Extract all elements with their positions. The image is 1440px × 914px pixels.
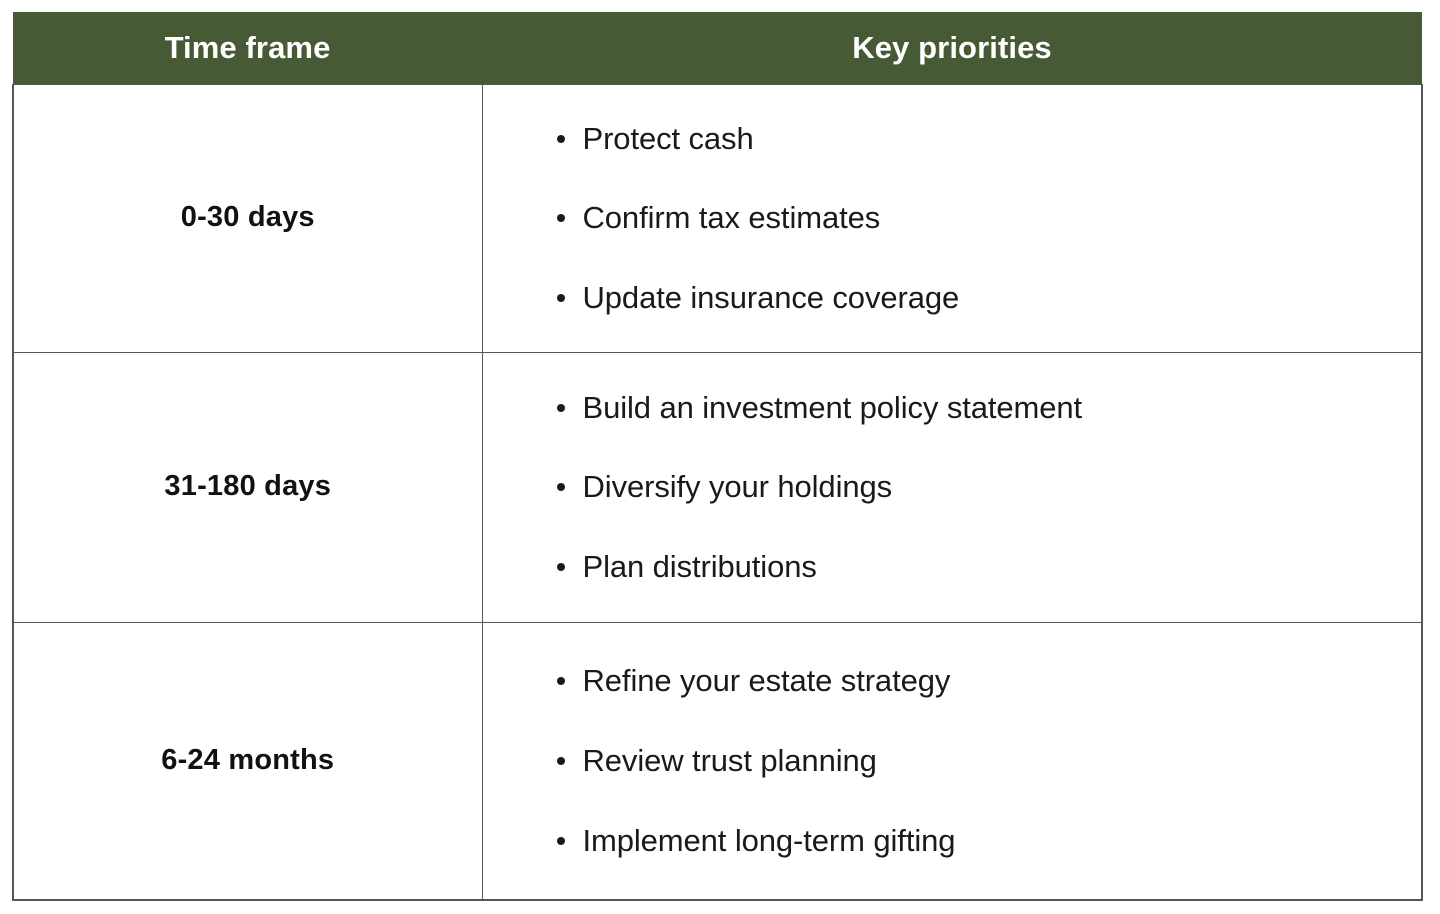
- list-item: Update insurance coverage: [553, 280, 1398, 316]
- priorities-cell: Protect cash Confirm tax estimates Updat…: [482, 84, 1422, 352]
- list-item: Protect cash: [553, 121, 1398, 157]
- priority-list: Protect cash Confirm tax estimates Updat…: [553, 121, 1398, 316]
- list-item: Plan distributions: [553, 549, 1398, 585]
- page-root: Time frame Key priorities 0-30 days Prot…: [0, 0, 1440, 914]
- bullet-icon: [557, 404, 565, 412]
- column-header-time-frame-label: Time frame: [13, 32, 482, 63]
- priority-list: Refine your estate strategy Review trust…: [553, 663, 1398, 858]
- priorities-table: Time frame Key priorities 0-30 days Prot…: [12, 12, 1423, 901]
- list-item-label: Refine your estate strategy: [583, 663, 951, 698]
- list-item-label: Confirm tax estimates: [583, 200, 881, 235]
- list-item-label: Diversify your holdings: [583, 469, 893, 504]
- bullet-icon: [557, 677, 565, 685]
- timeframe-label: 6-24 months: [14, 745, 482, 777]
- list-item: Build an investment policy statement: [553, 390, 1398, 426]
- table-header-row: Time frame Key priorities: [13, 12, 1422, 84]
- list-item-label: Implement long-term gifting: [583, 823, 956, 858]
- bullet-icon: [557, 214, 565, 222]
- list-item-label: Review trust planning: [583, 743, 877, 778]
- timeframe-label: 0-30 days: [14, 202, 482, 234]
- bullet-icon: [557, 294, 565, 302]
- bullet-icon: [557, 483, 565, 491]
- column-header-time-frame: Time frame: [13, 12, 482, 84]
- bullet-icon: [557, 135, 565, 143]
- list-item: Diversify your holdings: [553, 469, 1398, 505]
- priorities-cell: Refine your estate strategy Review trust…: [482, 622, 1422, 900]
- timeframe-cell: 0-30 days: [13, 84, 482, 352]
- list-item-label: Plan distributions: [583, 549, 817, 584]
- list-item: Review trust planning: [553, 743, 1398, 779]
- column-header-key-priorities-label: Key priorities: [482, 32, 1422, 63]
- list-item: Refine your estate strategy: [553, 663, 1398, 699]
- bullet-icon: [557, 563, 565, 571]
- list-item-label: Protect cash: [583, 121, 754, 156]
- table-body: 0-30 days Protect cash Confirm tax estim…: [13, 84, 1422, 900]
- column-header-key-priorities: Key priorities: [482, 12, 1422, 84]
- table-row: 6-24 months Refine your estate strategy …: [13, 622, 1422, 900]
- table-header: Time frame Key priorities: [13, 12, 1422, 84]
- priority-list: Build an investment policy statement Div…: [553, 390, 1398, 585]
- list-item: Confirm tax estimates: [553, 200, 1398, 236]
- list-item-label: Update insurance coverage: [583, 280, 960, 315]
- bullet-icon: [557, 837, 565, 845]
- timeframe-cell: 31-180 days: [13, 352, 482, 622]
- priorities-cell: Build an investment policy statement Div…: [482, 352, 1422, 622]
- bullet-icon: [557, 757, 565, 765]
- timeframe-cell: 6-24 months: [13, 622, 482, 900]
- list-item: Implement long-term gifting: [553, 823, 1398, 859]
- timeframe-label: 31-180 days: [14, 471, 482, 503]
- table-row: 0-30 days Protect cash Confirm tax estim…: [13, 84, 1422, 352]
- list-item-label: Build an investment policy statement: [583, 390, 1083, 425]
- table-row: 31-180 days Build an investment policy s…: [13, 352, 1422, 622]
